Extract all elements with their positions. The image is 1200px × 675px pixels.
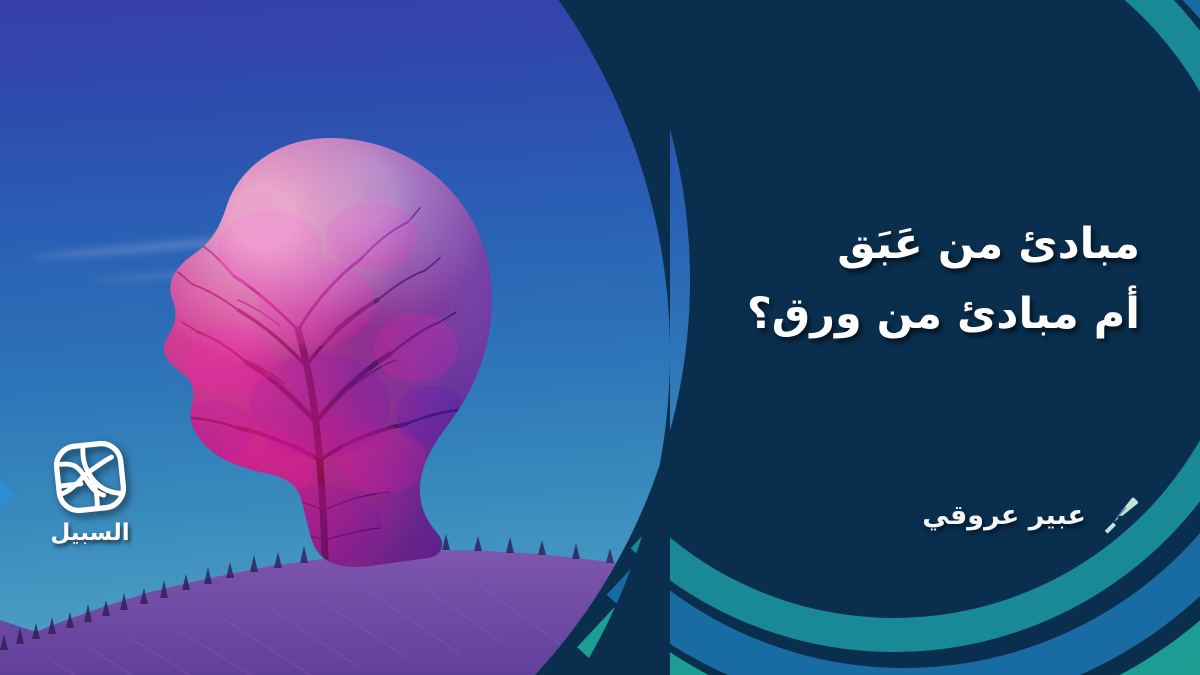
article-card: مبادئ من عَبَق أم مبادئ من ورق؟ عبير عرو…: [0, 0, 1200, 675]
fountain-pen-nib-icon: [1100, 495, 1140, 535]
brand-logo[interactable]: السبيل: [34, 438, 146, 546]
headline-line-2: أم مبادئ من ورق؟: [500, 280, 1140, 350]
author-byline[interactable]: عبير عروقي: [922, 495, 1140, 535]
author-name: عبير عروقي: [922, 500, 1086, 531]
interlaced-paths-emblem-icon: [51, 438, 129, 516]
page-title: مبادئ من عَبَق أم مبادئ من ورق؟: [500, 210, 1140, 349]
headline-line-1: مبادئ من عَبَق: [500, 210, 1140, 280]
brand-name: السبيل: [34, 520, 146, 546]
